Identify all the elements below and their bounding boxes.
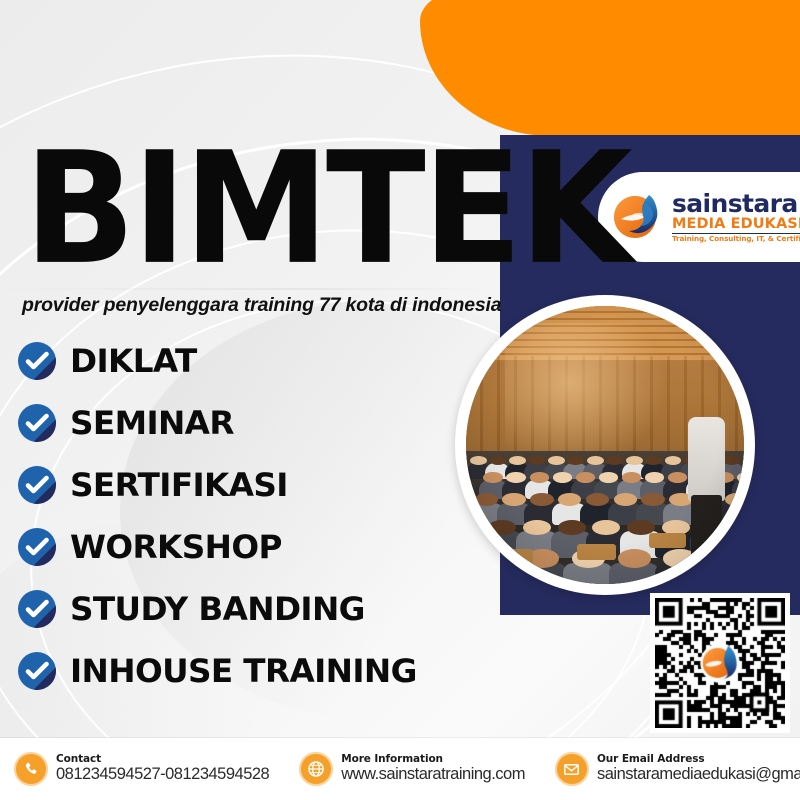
service-item-sertifikasi: SERTIFIKASI [18, 454, 488, 516]
footer-contact-value: www.sainstaratraining.com [341, 765, 525, 785]
orange-header-shape [420, 0, 800, 136]
footer-contact-label: More Information [341, 753, 525, 765]
qr-code[interactable] [650, 593, 790, 733]
page-subtitle: provider penyelenggara training 77 kota … [22, 294, 501, 317]
service-item-label: DIKLAT [70, 342, 197, 380]
service-item-label: STUDY BANDING [70, 590, 365, 628]
service-item-label: WORKSHOP [70, 528, 282, 566]
service-item-seminar: SEMINAR [18, 392, 488, 454]
check-circle-icon [18, 528, 56, 566]
page-title: BIMTEK [24, 132, 629, 287]
contact-footer: Contact081234594527-081234594528More Inf… [0, 738, 800, 800]
footer-contact-envelope[interactable]: Our Email Addresssainstaramediaedukasi@g… [555, 752, 800, 786]
brand-tagline: Training, Consulting, IT, & Certificatio… [672, 235, 800, 242]
footer-contact-globe[interactable]: More Informationwww.sainstaratraining.co… [299, 752, 525, 786]
check-circle-icon [18, 342, 56, 380]
phone-icon [14, 752, 48, 786]
photo-vignette [466, 306, 744, 584]
service-item-label: INHOUSE TRAINING [70, 652, 417, 690]
footer-contact-text: Contact081234594527-081234594528 [56, 753, 269, 785]
footer-contact-text: Our Email Addresssainstaramediaedukasi@g… [597, 753, 800, 785]
brand-subtitle: MEDIA EDUKASI [672, 217, 800, 232]
check-circle-icon [18, 590, 56, 628]
brand-logo-text: sainstara MEDIA EDUKASI Training, Consul… [672, 192, 800, 242]
service-item-study-banding: STUDY BANDING [18, 578, 488, 640]
brand-name: sainstara [672, 192, 800, 216]
footer-contact-label: Our Email Address [597, 753, 800, 765]
service-item-label: SERTIFIKASI [70, 466, 288, 504]
service-item-diklat: DIKLAT [18, 330, 488, 392]
footer-contact-value: 081234594527-081234594528 [56, 765, 269, 785]
audience-photo-image [466, 306, 744, 584]
qr-code-image [655, 598, 785, 728]
service-item-inhouse-training: INHOUSE TRAINING [18, 640, 488, 702]
audience-photo [455, 295, 755, 595]
footer-contact-phone[interactable]: Contact081234594527-081234594528 [14, 752, 269, 786]
footer-contact-label: Contact [56, 753, 269, 765]
footer-contact-value: sainstaramediaedukasi@gmail.com [597, 765, 800, 785]
globe-icon [299, 752, 333, 786]
service-item-workshop: WORKSHOP [18, 516, 488, 578]
check-circle-icon [18, 466, 56, 504]
footer-contact-text: More Informationwww.sainstaratraining.co… [341, 753, 525, 785]
poster-canvas: sainstara MEDIA EDUKASI Training, Consul… [0, 0, 800, 800]
envelope-icon [555, 752, 589, 786]
title-underline [0, 288, 492, 290]
service-item-label: SEMINAR [70, 404, 234, 442]
check-circle-icon [18, 404, 56, 442]
check-circle-icon [18, 652, 56, 690]
services-list: DIKLATSEMINARSERTIFIKASIWORKSHOPSTUDY BA… [18, 330, 488, 702]
